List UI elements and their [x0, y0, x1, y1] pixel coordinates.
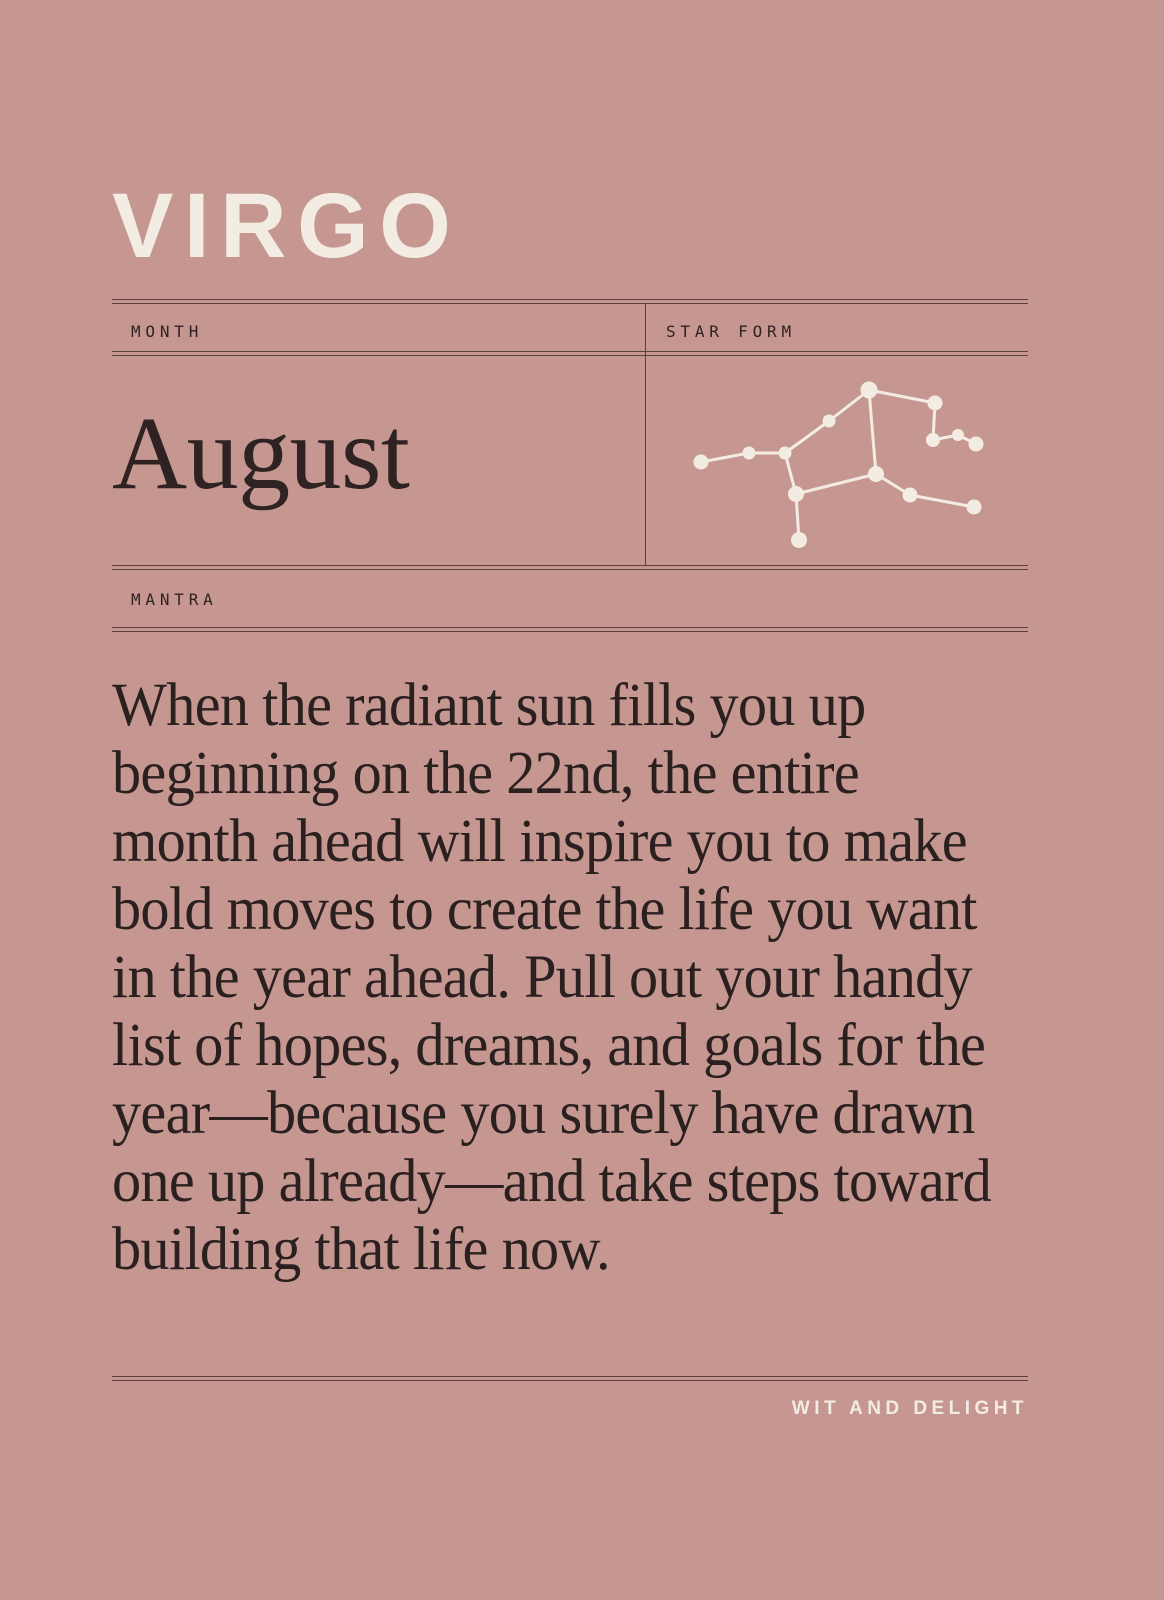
rule-above-labels: [112, 299, 1028, 304]
constellation-star-map-icon: [645, 352, 1028, 565]
rule-below-mantra-label: [112, 627, 1028, 632]
page-title: VIRGO: [112, 180, 461, 272]
footer-brand: WIT AND DELIGHT: [792, 1398, 1028, 1420]
field-label-mantra: MANTRA: [131, 590, 218, 609]
month-value: August: [112, 398, 409, 510]
rule-footer: [112, 1376, 1028, 1381]
mantra-text: When the radiant sun fills you up beginn…: [112, 672, 1010, 1284]
poster-canvas: VIRGO MONTH STAR FORM August MANTRA When…: [0, 0, 1164, 1600]
rule-above-mantra-label: [112, 565, 1028, 570]
field-label-month: MONTH: [131, 322, 203, 341]
field-label-star-form: STAR FORM: [666, 322, 796, 341]
constellation-diagram: [645, 352, 1028, 565]
